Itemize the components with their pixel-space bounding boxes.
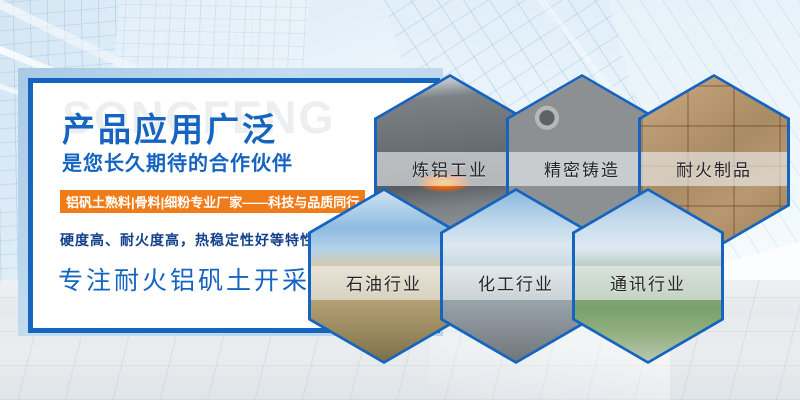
feature-text: 硬度高、耐火度高，热稳定性好等特性 xyxy=(60,230,315,250)
headline-secondary: 是您长久期待的合作伙伴 xyxy=(62,147,293,176)
hex-label-smelting: 炼铝工业 xyxy=(377,152,523,186)
headline-primary: 产品应用广泛 xyxy=(62,103,278,151)
tagline-badge: 铝矾土熟料|骨料|细粉专业厂家——科技与品质同行 xyxy=(60,190,365,213)
promotional-banner: SONGFENG 产品应用广泛 是您长久期待的合作伙伴 铝矾土熟料|骨料|细粉专… xyxy=(0,0,800,400)
hex-label-casting: 精密铸造 xyxy=(509,152,655,186)
hex-label-chem: 化工行业 xyxy=(443,266,589,300)
hex-label-comm: 通讯行业 xyxy=(575,266,721,300)
hex-label-oil: 石油行业 xyxy=(311,266,457,300)
hex-label-refractory: 耐火制品 xyxy=(641,152,787,186)
